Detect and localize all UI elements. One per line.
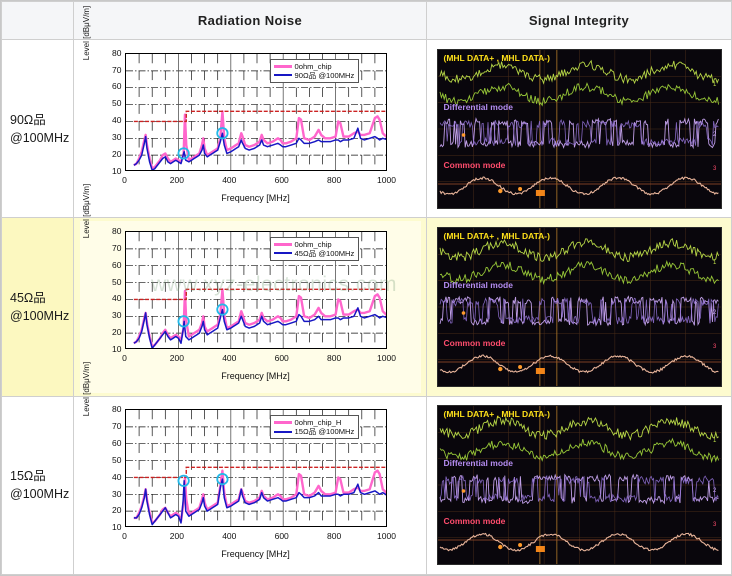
y-axis-tick: 30 xyxy=(100,490,122,498)
y-axis-tick: 60 xyxy=(100,439,122,447)
table-row: 45Ω品@100MHz Level [dBμV/m] 1020304050607… xyxy=(2,218,732,396)
signal-integrity-cell-row-45ohm: 123 (MHL DATA+ , MHL DATA-) Differential… xyxy=(427,218,732,396)
y-axis-tick: 80 xyxy=(100,227,122,235)
table-body: 90Ω品@100MHz Level [dBμV/m] 1020304050607… xyxy=(2,40,732,575)
legend-swatch-icon xyxy=(274,421,292,424)
legend-entry: 0ohm_chip xyxy=(274,62,355,71)
scope-label-common: Common mode xyxy=(444,338,506,348)
legend-label: 0ohm_chip xyxy=(295,240,332,249)
y-axis-tick: 40 xyxy=(100,473,122,481)
y-axis-tick: 10 xyxy=(100,167,122,175)
row-label-cell-row-90ohm: 90Ω品@100MHz xyxy=(2,40,74,218)
row-label: 45Ω品@100MHz xyxy=(2,289,73,325)
y-axis-tick: 20 xyxy=(100,328,122,336)
chart-row-15ohm: Level [dBμV/m] 1020304050607080 02004006… xyxy=(80,399,421,571)
scope-label-mhl-data: (MHL DATA+ , MHL DATA-) xyxy=(444,53,550,63)
x-axis-tick: 200 xyxy=(162,353,192,363)
x-axis-tick: 1000 xyxy=(372,175,402,185)
row-label-frequency: @100MHz xyxy=(10,307,73,325)
row-label: 90Ω品@100MHz xyxy=(2,111,73,147)
header-row: Radiation Noise Signal Integrity xyxy=(2,2,732,40)
row-label-impedance: 15Ω品 xyxy=(10,467,73,485)
y-axis-tick: 50 xyxy=(100,456,122,464)
x-axis-tick: 600 xyxy=(267,531,297,541)
scope-label-mhl-data: (MHL DATA+ , MHL DATA-) xyxy=(444,231,550,241)
y-axis-tick: 10 xyxy=(100,345,122,353)
header-blank-cell xyxy=(2,2,74,40)
chart-row-90ohm: Level [dBμV/m] 1020304050607080 02004006… xyxy=(80,43,421,215)
x-axis-label: Frequency [MHz] xyxy=(125,193,387,203)
y-axis-label: Level [dBμV/m] xyxy=(82,171,91,251)
oscilloscope-capture-row-15ohm: 123 (MHL DATA+ , MHL DATA-) Differential… xyxy=(437,405,722,565)
legend-entry: 0ohm_chip_H xyxy=(274,418,355,427)
y-axis-label: Level [dBμV/m] xyxy=(82,0,91,73)
x-axis-tick: 600 xyxy=(267,175,297,185)
x-axis-tick: 800 xyxy=(319,175,349,185)
y-axis-tick: 70 xyxy=(100,66,122,74)
x-axis-tick: 200 xyxy=(162,175,192,185)
x-axis-tick: 0 xyxy=(110,353,140,363)
y-axis-tick: 40 xyxy=(100,294,122,302)
y-axis-tick: 20 xyxy=(100,506,122,514)
scope-label-common: Common mode xyxy=(444,160,506,170)
chart-legend: 0ohm_chip_H 15Ω品 @100MHz xyxy=(270,415,360,439)
x-axis-tick: 0 xyxy=(110,531,140,541)
radiation-noise-cell-row-45ohm: Level [dBμV/m] 1020304050607080 02004006… xyxy=(74,218,427,396)
header-radiation-noise: Radiation Noise xyxy=(74,2,427,40)
comparison-matrix-page: www.xyz-electronics.com Radiation Noise … xyxy=(0,0,732,576)
y-axis-ticks: 1020304050607080 xyxy=(98,43,122,183)
oscilloscope-capture-row-90ohm: 123 (MHL DATA+ , MHL DATA-) Differential… xyxy=(437,49,722,209)
legend-entry: 45Ω品 @100MHz xyxy=(274,249,355,258)
legend-entry: 0ohm_chip xyxy=(274,240,355,249)
radiation-noise-cell-row-15ohm: Level [dBμV/m] 1020304050607080 02004006… xyxy=(74,396,427,574)
y-axis-tick: 70 xyxy=(100,422,122,430)
y-axis-tick: 60 xyxy=(100,82,122,90)
legend-swatch-icon xyxy=(274,243,292,246)
y-axis-tick: 60 xyxy=(100,261,122,269)
x-axis-tick: 0 xyxy=(110,175,140,185)
y-axis-label: Level [dBμV/m] xyxy=(82,349,91,429)
table-row: 15Ω品@100MHz Level [dBμV/m] 1020304050607… xyxy=(2,396,732,574)
y-axis-tick: 50 xyxy=(100,278,122,286)
legend-swatch-icon xyxy=(274,74,292,76)
scope-label-differential: Differential mode xyxy=(444,280,513,290)
legend-label: 15Ω品 @100MHz xyxy=(295,427,355,436)
row-label-frequency: @100MHz xyxy=(10,485,73,503)
chart-legend: 0ohm_chip 45Ω品 @100MHz xyxy=(270,237,360,261)
y-axis-tick: 10 xyxy=(100,523,122,531)
row-label: 15Ω品@100MHz xyxy=(2,467,73,503)
legend-label: 0ohm_chip_H xyxy=(295,418,342,427)
legend-swatch-icon xyxy=(274,431,292,433)
comparison-table: Radiation Noise Signal Integrity 90Ω品@10… xyxy=(1,1,732,575)
legend-entry: 15Ω品 @100MHz xyxy=(274,427,355,436)
chart-row-45ohm: Level [dBμV/m] 1020304050607080 02004006… xyxy=(80,221,421,393)
row-label-cell-row-45ohm: 45Ω品@100MHz xyxy=(2,218,74,396)
plot-outer: Level [dBμV/m] 1020304050607080 02004006… xyxy=(80,43,421,215)
scope-label-common: Common mode xyxy=(444,516,506,526)
scope-label-differential: Differential mode xyxy=(444,102,513,112)
x-axis-tick: 800 xyxy=(319,353,349,363)
x-axis-tick: 1000 xyxy=(372,531,402,541)
legend-label: 0ohm_chip xyxy=(295,62,332,71)
signal-integrity-cell-row-90ohm: 123 (MHL DATA+ , MHL DATA-) Differential… xyxy=(427,40,732,218)
y-axis-tick: 20 xyxy=(100,150,122,158)
row-label-impedance: 45Ω品 xyxy=(10,289,73,307)
legend-entry: 90Ω品 @100MHz xyxy=(274,71,355,80)
y-axis-tick: 30 xyxy=(100,311,122,319)
signal-integrity-cell-row-15ohm: 123 (MHL DATA+ , MHL DATA-) Differential… xyxy=(427,396,732,574)
legend-label: 90Ω品 @100MHz xyxy=(295,71,355,80)
y-axis-tick: 30 xyxy=(100,133,122,141)
table-header: Radiation Noise Signal Integrity xyxy=(2,2,732,40)
legend-label: 45Ω品 @100MHz xyxy=(295,249,355,258)
oscilloscope-capture-row-45ohm: 123 (MHL DATA+ , MHL DATA-) Differential… xyxy=(437,227,722,387)
x-axis-tick: 400 xyxy=(214,175,244,185)
y-axis-ticks: 1020304050607080 xyxy=(98,399,122,539)
table-row: 90Ω品@100MHz Level [dBμV/m] 1020304050607… xyxy=(2,40,732,218)
y-axis-tick: 50 xyxy=(100,99,122,107)
y-axis-tick: 80 xyxy=(100,405,122,413)
legend-swatch-icon xyxy=(274,65,292,68)
header-signal-integrity: Signal Integrity xyxy=(427,2,732,40)
x-axis-tick: 600 xyxy=(267,353,297,363)
scope-label-differential: Differential mode xyxy=(444,458,513,468)
x-axis-tick: 800 xyxy=(319,531,349,541)
y-axis-tick: 70 xyxy=(100,244,122,252)
chart-legend: 0ohm_chip 90Ω品 @100MHz xyxy=(270,59,360,83)
plot-outer: Level [dBμV/m] 1020304050607080 02004006… xyxy=(80,399,421,571)
legend-swatch-icon xyxy=(274,252,292,254)
x-axis-label: Frequency [MHz] xyxy=(125,371,387,381)
x-axis-tick: 200 xyxy=(162,531,192,541)
x-axis-tick: 400 xyxy=(214,353,244,363)
row-label-impedance: 90Ω品 xyxy=(10,111,73,129)
y-axis-tick: 40 xyxy=(100,116,122,124)
x-axis-label: Frequency [MHz] xyxy=(125,549,387,559)
x-axis-tick: 400 xyxy=(214,531,244,541)
radiation-noise-cell-row-90ohm: Level [dBμV/m] 1020304050607080 02004006… xyxy=(74,40,427,218)
scope-label-mhl-data: (MHL DATA+ , MHL DATA-) xyxy=(444,409,550,419)
row-label-cell-row-15ohm: 15Ω品@100MHz xyxy=(2,396,74,574)
row-label-frequency: @100MHz xyxy=(10,129,73,147)
y-axis-tick: 80 xyxy=(100,49,122,57)
x-axis-tick: 1000 xyxy=(372,353,402,363)
y-axis-ticks: 1020304050607080 xyxy=(98,221,122,361)
plot-outer: Level [dBμV/m] 1020304050607080 02004006… xyxy=(80,221,421,393)
